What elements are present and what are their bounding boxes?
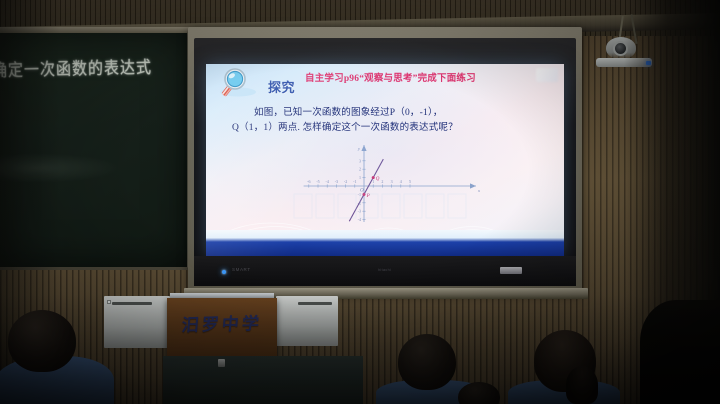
svg-text:3: 3 <box>391 179 393 184</box>
svg-text:2: 2 <box>381 179 383 184</box>
student-center-head <box>398 334 456 390</box>
podium: 汨罗中学 <box>167 298 277 361</box>
svg-text:1: 1 <box>359 175 361 180</box>
svg-text:Q: Q <box>376 177 380 182</box>
problem-statement: 如图，已知一次函数的图象经过P（0，-1）， Q（1，1）两点. 怎样确定这个一… <box>232 106 546 136</box>
student-right-hair-tie <box>566 366 598 404</box>
student-small-center-head <box>458 382 500 404</box>
slide-footer-band <box>206 230 564 256</box>
svg-text:y: y <box>357 146 360 151</box>
svg-text:5: 5 <box>409 179 411 184</box>
svg-text:4: 4 <box>400 179 402 184</box>
screen-glare <box>536 68 558 82</box>
instruction-text: 自主学习p96“观察与思考”完成下面练习 <box>305 73 520 86</box>
teacher-desk <box>163 356 363 404</box>
classroom-scene: 确定一次函数的表达式 探究 <box>0 0 720 404</box>
svg-text:-4: -4 <box>326 179 329 184</box>
equipment-cabinet-right <box>276 296 338 346</box>
explore-badge-row: 探究 自主学习p96“观察与思考”完成下面练习 <box>218 68 520 98</box>
power-led-indicator <box>222 270 226 274</box>
svg-text:-2: -2 <box>344 179 347 184</box>
problem-line-1: 如图，已知一次函数的图象经过P（0，-1）， <box>232 106 546 121</box>
cabinet-vent-slot <box>298 302 332 305</box>
problem-line-2: Q（1，1）两点. 怎样确定这个一次函数的表达式呢？ <box>232 121 546 136</box>
svg-text:3: 3 <box>359 158 361 163</box>
student-right-edge <box>640 300 720 404</box>
whiteboard-control-buttons[interactable] <box>500 267 522 274</box>
svg-text:-1: -1 <box>353 179 356 184</box>
svg-text:-5: -5 <box>316 179 319 184</box>
svg-text:-3: -3 <box>335 179 338 184</box>
whiteboard-screen[interactable]: 探究 自主学习p96“观察与思考”完成下面练习 如图，已知一次函数的图象经过P（… <box>206 64 564 256</box>
student-left-head <box>8 310 76 372</box>
cabinet-indicator <box>107 300 111 304</box>
equipment-cabinet-left <box>104 296 170 348</box>
cabinet-vent-slot <box>112 302 152 305</box>
explore-badge-label: 探究 <box>268 81 295 94</box>
desk-hook <box>218 359 225 367</box>
whiteboard-brand-text: SMART <box>232 267 251 272</box>
podium-school-name: 汨罗中学 <box>166 309 278 337</box>
svg-text:2: 2 <box>359 167 361 172</box>
magnifier-icon <box>218 68 264 98</box>
whiteboard-logo-text: hitachi <box>378 268 391 272</box>
svg-text:-6: -6 <box>307 179 310 184</box>
